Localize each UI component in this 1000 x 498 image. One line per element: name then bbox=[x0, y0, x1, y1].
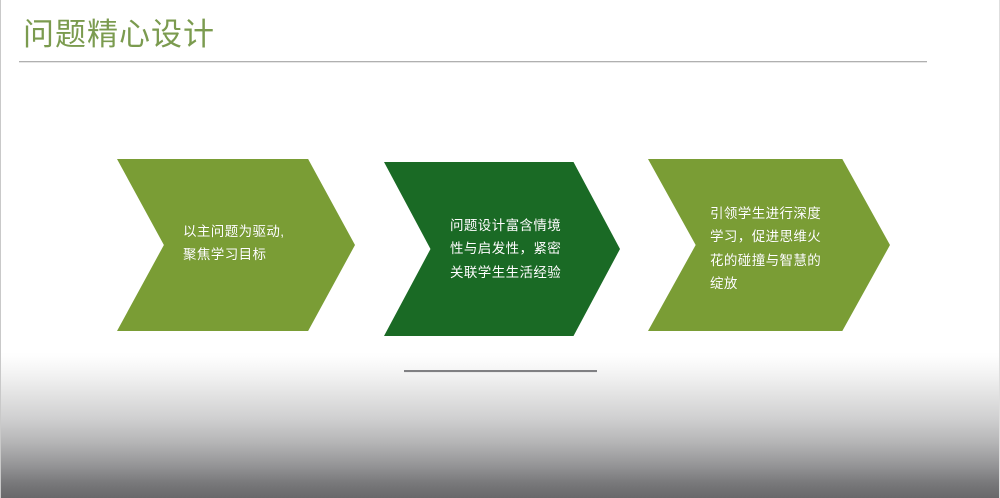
slide-canvas: 问题精心设计 以主问题为驱动, 聚焦学习目标 问题设计富含情境 性与启发性，紧密… bbox=[0, 0, 1000, 498]
process-step-2[interactable]: 问题设计富含情境 性与启发性，紧密 关联学生生活经验 bbox=[384, 162, 620, 336]
process-step-3-label: 引领学生进行深度 学习，促进思维火 花的碰撞与智慧的 绽放 bbox=[710, 202, 821, 295]
footer-divider bbox=[404, 370, 597, 372]
process-step-1-label: 以主问题为驱动, 聚焦学习目标 bbox=[183, 220, 284, 267]
process-step-1[interactable]: 以主问题为驱动, 聚焦学习目标 bbox=[117, 159, 355, 331]
page-title: 问题精心设计 bbox=[23, 17, 215, 54]
process-step-2-label: 问题设计富含情境 性与启发性，紧密 关联学生生活经验 bbox=[450, 214, 561, 284]
bottom-gradient-band bbox=[1, 352, 999, 498]
title-divider bbox=[19, 61, 927, 62]
process-step-3[interactable]: 引领学生进行深度 学习，促进思维火 花的碰撞与智慧的 绽放 bbox=[648, 159, 890, 331]
